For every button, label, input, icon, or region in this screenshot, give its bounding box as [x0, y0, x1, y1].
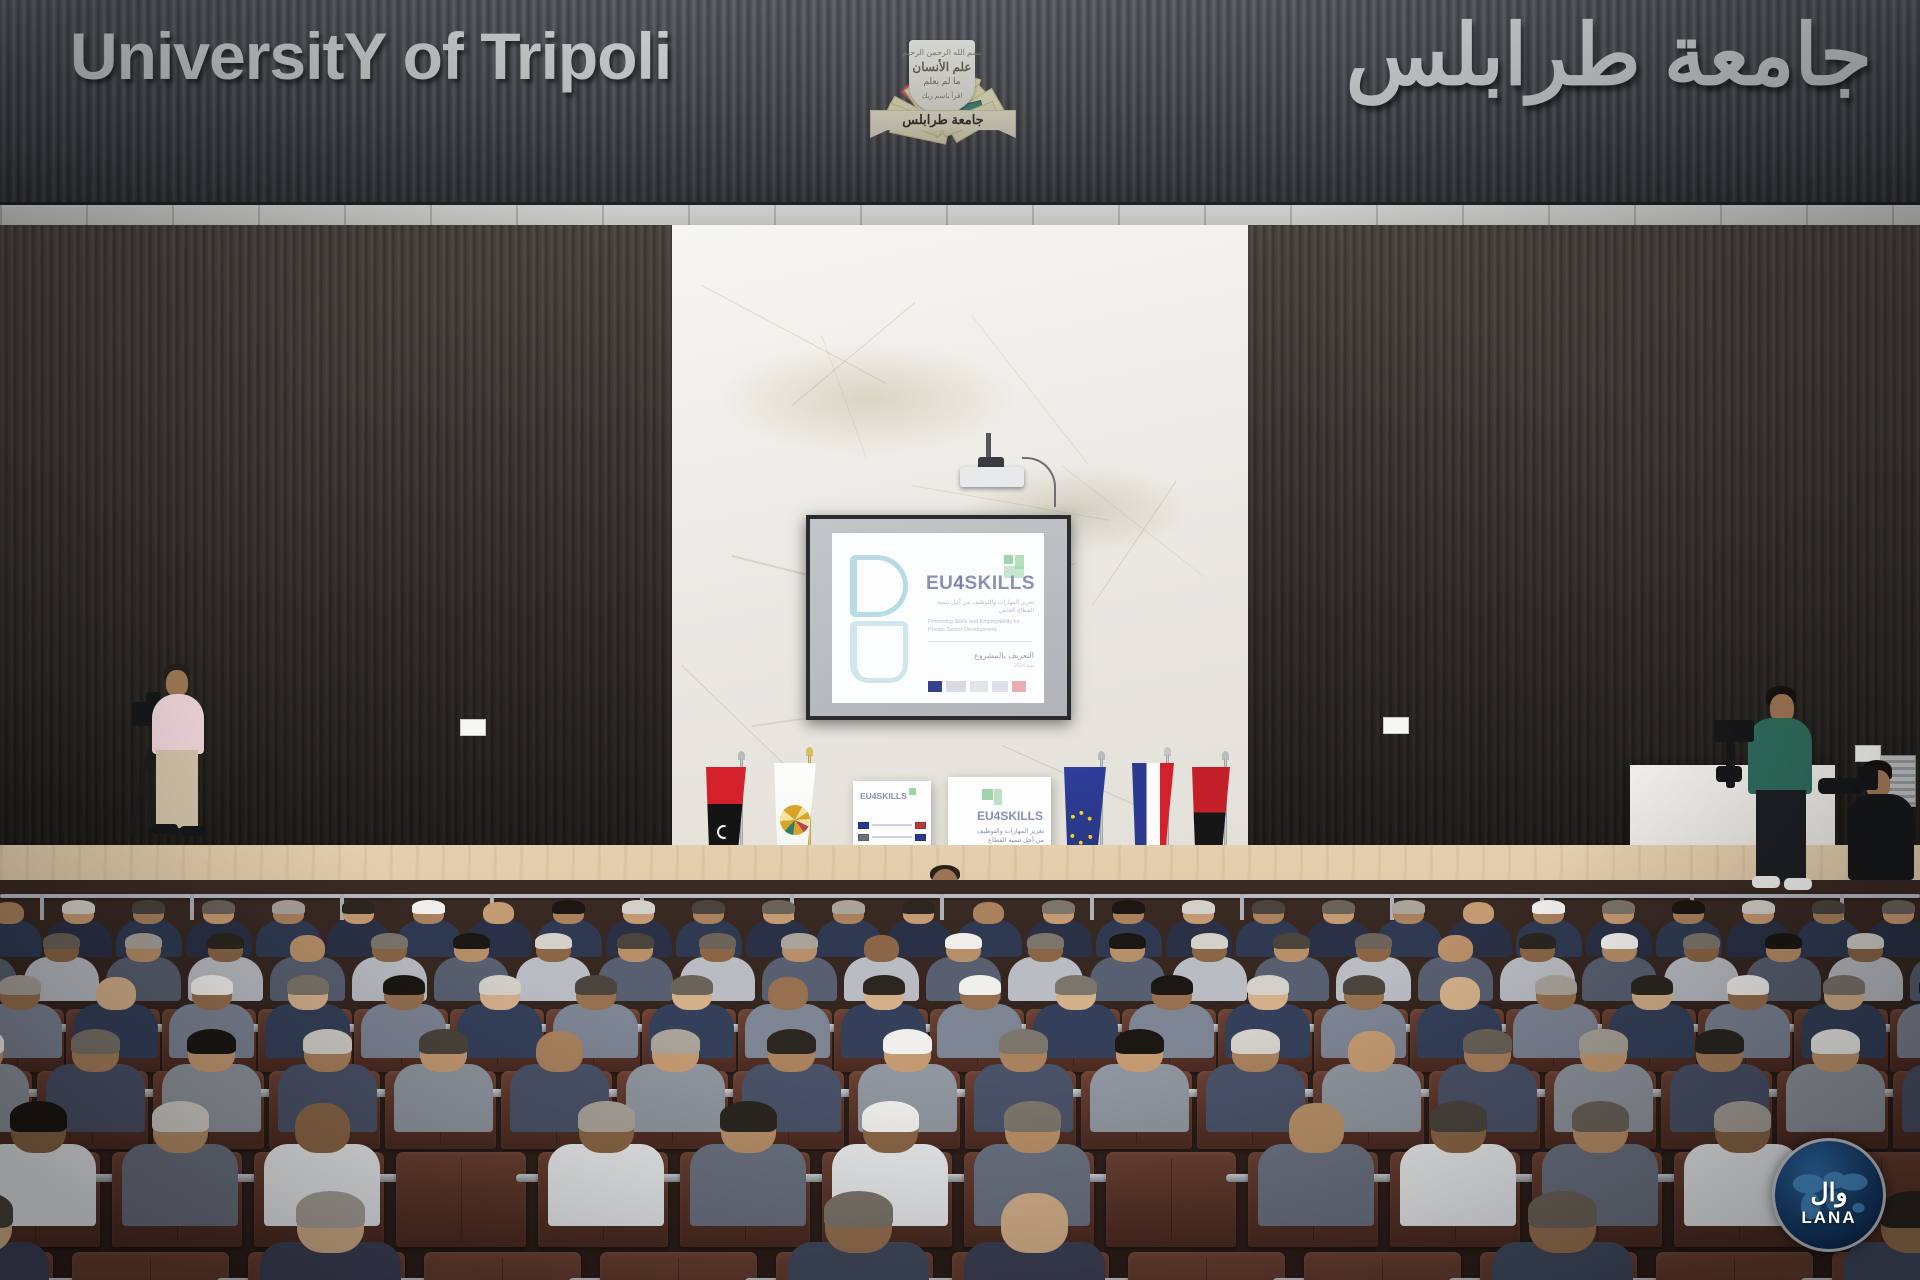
audience-member-torso [548, 1144, 665, 1226]
slide-green-square-1 [1004, 555, 1013, 564]
audience-member-hair [1463, 1029, 1512, 1054]
audience-member-hair [651, 1029, 700, 1054]
university-name-arabic: جامعة طرابلس [1346, 6, 1872, 104]
university-name-english: UniversitY of Tripoli [70, 18, 671, 94]
slide-partner-logo-2-icon [970, 681, 988, 692]
audience-member-head [295, 1103, 350, 1153]
audience-member-hair [1151, 975, 1193, 995]
slide-arabic-subheading: ليبيا 2024 [928, 663, 1034, 669]
audience-member-hair [125, 933, 162, 950]
slide-partner-logo-3-icon [992, 681, 1008, 692]
audience-member-hair [1343, 975, 1385, 995]
audience-member-head [864, 935, 899, 962]
audience-member-hair [296, 1191, 365, 1228]
audience-member-head [1438, 935, 1473, 962]
audience-member-hair [617, 933, 654, 950]
stage-wall-left [0, 225, 672, 845]
audience-member-hair [692, 900, 725, 914]
audience-member-hair [1004, 1101, 1061, 1132]
audience-member-hair [1602, 900, 1635, 914]
audience-member-hair [535, 933, 572, 950]
auditorium-seat[interactable] [424, 1252, 581, 1280]
audience-member-hair [1631, 975, 1673, 995]
auditorium-seat[interactable] [72, 1252, 229, 1280]
photographer-jacket [1848, 794, 1914, 880]
marble-vein [701, 285, 887, 385]
audience-member-torso [1258, 1144, 1375, 1226]
audience-member-torso [690, 1144, 807, 1226]
audience-member-hair [902, 900, 935, 914]
gimbal-grip-icon [1716, 766, 1742, 782]
rail-post [1090, 894, 1094, 920]
slide-brand-number: 4 [953, 573, 964, 594]
building-signage-band: UniversitY of Tripoli بسم الله الرحمن ال… [0, 0, 1920, 205]
audience-member-hair [1535, 975, 1577, 995]
eu4skills-e-mark-icon [850, 555, 908, 683]
audience-member-hair [1528, 1191, 1597, 1228]
crest-arabic-small: اقرأ باسم ربك [862, 92, 1022, 100]
crest-arabic-motto-2: ما لم يعلم [862, 76, 1022, 87]
rollup-right-brand: EU4SKILLS [977, 809, 1043, 823]
audience-member-hair [453, 933, 490, 950]
audience-member-head [1001, 1193, 1068, 1253]
audience-member-hair [10, 1101, 67, 1132]
audience-member-hair [43, 933, 80, 950]
partner-flag-icon [915, 834, 926, 841]
slide-partner-logo-4-icon [1012, 681, 1026, 692]
audience-member-hair [824, 1191, 893, 1228]
audience-member-hair [1601, 933, 1638, 950]
auditorium-seat[interactable] [600, 1252, 757, 1280]
slide-brand-prefix: EU [926, 573, 953, 594]
university-flag-emblem-icon [780, 805, 810, 835]
audience-member-hair [1714, 1101, 1771, 1132]
university-crest-logo: بسم الله الرحمن الرحيم علم الأنسان ما لم… [862, 14, 1022, 144]
audience-member-torso [457, 1004, 542, 1058]
audience-member-head [536, 1031, 583, 1072]
audience-member-torso [0, 1144, 96, 1226]
rollup-right-green-square-2 [994, 789, 1002, 805]
audience-member-hair [863, 975, 905, 995]
videographer-left-head [166, 670, 188, 696]
audience-member-hair [479, 975, 521, 995]
audience-member-hair [1322, 900, 1355, 914]
audience-member-hair [71, 1029, 120, 1054]
marble-vein [792, 302, 915, 406]
audience-member-hair [552, 900, 585, 914]
audience-seating-area [0, 880, 1920, 1280]
audience-member-hair [762, 900, 795, 914]
audience-member-hair [699, 933, 736, 950]
auditorium-seat[interactable] [1304, 1252, 1461, 1280]
lana-agency-watermark: وال LANA [1772, 1138, 1886, 1252]
audience-member-hair [1191, 933, 1228, 950]
auditorium-seat[interactable] [1656, 1252, 1813, 1280]
partner-flag-label [872, 836, 912, 838]
partner-flag-icon [858, 834, 869, 841]
rollup-left-green-square [909, 788, 916, 795]
audience-member-hair [1115, 1029, 1164, 1054]
partner-flag-icon [915, 822, 926, 829]
audience-member-head [290, 935, 325, 962]
audience-member-hair [1273, 933, 1310, 950]
photograph-canvas: UniversitY of Tripoli بسم الله الرحمن ال… [0, 0, 1920, 1280]
partner-flag-label [872, 824, 912, 826]
audience-member-hair [207, 933, 244, 950]
dslr-camera-body-icon [1858, 766, 1878, 790]
audience-member-hair [575, 975, 617, 995]
videographer-right-sneaker-1 [1752, 876, 1780, 888]
audience-member-hair [1055, 975, 1097, 995]
projection-screen: EU4SKILLS تعزيز المهارات والتوظيف من أجل… [806, 515, 1071, 720]
videographer-left-shoe-1 [152, 824, 178, 834]
audience-member-head [1289, 1103, 1344, 1153]
auditorium-seat[interactable] [396, 1152, 526, 1247]
audience-member-hair [1579, 1029, 1628, 1054]
audience-member-torso [0, 920, 42, 956]
watermark-latin-text: LANA [1801, 1208, 1856, 1228]
audience-member-hair [272, 900, 305, 914]
audience-member-hair [1572, 1101, 1629, 1132]
audience-member-hair [1683, 933, 1720, 950]
marble-vein [821, 335, 866, 457]
videographer-left-shoe-2 [180, 826, 206, 836]
audience-member-hair [1355, 933, 1392, 950]
audience-member-torso [626, 1064, 725, 1131]
wall-sign-center-left [460, 719, 486, 736]
partner-flag-icon [858, 822, 869, 829]
audience-member-hair [62, 900, 95, 914]
audience-member-hair [1882, 900, 1915, 914]
audience-member-hair [1742, 900, 1775, 914]
audience-member-head [973, 902, 1004, 924]
audience-member-head [96, 977, 136, 1010]
slide-partner-logo-row [928, 681, 1036, 692]
audience-member-hair [1532, 900, 1565, 914]
rail-post [940, 894, 944, 920]
slide-divider [928, 641, 1032, 642]
videographer-right-tshirt [1748, 718, 1812, 794]
audience-member-head [1440, 977, 1480, 1010]
audience-member-hair [187, 1029, 236, 1054]
audience-member-hair [1847, 933, 1884, 950]
audience-member-hair [767, 1029, 816, 1054]
audience-member-torso [122, 1144, 239, 1226]
audience-member-torso [1786, 1064, 1885, 1131]
slide-eu-logo-icon [928, 681, 942, 692]
stage-wall-right [1240, 225, 1920, 845]
audience-member-hair [412, 900, 445, 914]
audience-member-hair [1392, 900, 1425, 914]
audience-member-torso [1910, 957, 1920, 1001]
audience-member-hair [1109, 933, 1146, 950]
videographer-right-cargo-pants [1756, 790, 1806, 882]
audience-member-hair [945, 933, 982, 950]
ceiling-projector [960, 467, 1024, 487]
audience-member-hair [132, 900, 165, 914]
auditorium-seat[interactable] [1128, 1252, 1285, 1280]
audience-member-head [1348, 1031, 1395, 1072]
crest-banner-text: جامعة طرابلس [902, 111, 983, 128]
audience-member-head [768, 977, 808, 1010]
slide-partner-logo-1-icon [946, 681, 966, 692]
presentation-slide: EU4SKILLS تعزيز المهارات والتوظيف من أجل… [832, 533, 1044, 703]
audience-member-torso [0, 1242, 49, 1280]
auditorium-seat[interactable] [1106, 1152, 1236, 1247]
crest-arabic-motto: علم الأنسان [862, 60, 1022, 74]
audience-member-hair [1519, 933, 1556, 950]
audience-member-hair [1765, 933, 1802, 950]
slide-brand-wordmark: EU4SKILLS [926, 573, 1035, 595]
audience-member-hair [1727, 975, 1769, 995]
rollup-left-brand: EU4SKILLS [860, 791, 907, 801]
audience-member-hair [1027, 933, 1064, 950]
audience-member-hair [1430, 1101, 1487, 1132]
audience-member-hair [371, 933, 408, 950]
audience-member-hair [1231, 1029, 1280, 1054]
audience-member-hair [0, 975, 41, 995]
crest-arabic-top: بسم الله الرحمن الرحيم [862, 48, 1022, 57]
partner-flag-row [858, 831, 926, 843]
slide-brand-suffix: SKILLS [964, 573, 1035, 594]
projection-screen-surface: EU4SKILLS تعزيز المهارات والتوظيف من أجل… [810, 519, 1067, 716]
audience-member-torso [0, 1004, 62, 1058]
audience-member-torso [1090, 1064, 1189, 1131]
slide-arabic-tagline: تعزيز المهارات والتوظيف من أجل تنمية الق… [928, 599, 1034, 615]
audience-member-hair [862, 1101, 919, 1132]
audience-member-hair [191, 975, 233, 995]
audience-member-hair [342, 900, 375, 914]
audience-member-hair [1672, 900, 1705, 914]
audience-member-head [1463, 902, 1494, 924]
slide-arabic-heading: التعريف بالمشروع [928, 651, 1034, 660]
audience-member-hair [202, 900, 235, 914]
slide-english-tagline: Promoting Skills and Employability for P… [928, 619, 1034, 634]
audience-member-hair [287, 975, 329, 995]
audience-member-hair [419, 1029, 468, 1054]
audience-member-hair [383, 975, 425, 995]
audience-member-head [0, 902, 24, 924]
audience-member-hair [959, 975, 1001, 995]
audience-member-hair [1252, 900, 1285, 914]
audience-member-hair [1811, 1029, 1860, 1054]
audience-member-hair [303, 1029, 352, 1054]
audience-member-hair [578, 1101, 635, 1132]
rail-post [1240, 894, 1244, 920]
audience-member-hair [1042, 900, 1075, 914]
audience-member-hair [1247, 975, 1289, 995]
audience-member-hair [1812, 900, 1845, 914]
videographer-left-shirt [152, 694, 204, 754]
marble-vein [1061, 465, 1203, 577]
audience-member-head [483, 902, 514, 924]
audience-member-hair [1823, 975, 1865, 995]
audience-member-torso [394, 1064, 493, 1131]
partner-flag-row [858, 819, 926, 831]
watermark-arabic-text: وال [1810, 1178, 1847, 1208]
audience-member-hair [622, 900, 655, 914]
rail-post [190, 894, 194, 920]
audience-member-hair [720, 1101, 777, 1132]
audience-member-hair [671, 975, 713, 995]
gimbal-camera-icon [1714, 720, 1754, 742]
audience-member-torso [1400, 1144, 1517, 1226]
rollup-right-green-square-1 [982, 789, 993, 800]
wall-sign-center-right [1383, 717, 1409, 734]
audience-member-hair [832, 900, 865, 914]
audience-member-hair [883, 1029, 932, 1054]
rail-post [40, 894, 44, 920]
audience-member-hair [1182, 900, 1215, 914]
audience-member-hair [781, 933, 818, 950]
videographer-right-sneaker-2 [1784, 878, 1812, 890]
audience-member-hair [152, 1101, 209, 1132]
videographer-left-trousers [156, 750, 198, 828]
audience-member-hair [1695, 1029, 1744, 1054]
audience-safety-rail [0, 894, 1920, 898]
audience-member-hair [999, 1029, 1048, 1054]
audience-member-hair [1112, 900, 1145, 914]
